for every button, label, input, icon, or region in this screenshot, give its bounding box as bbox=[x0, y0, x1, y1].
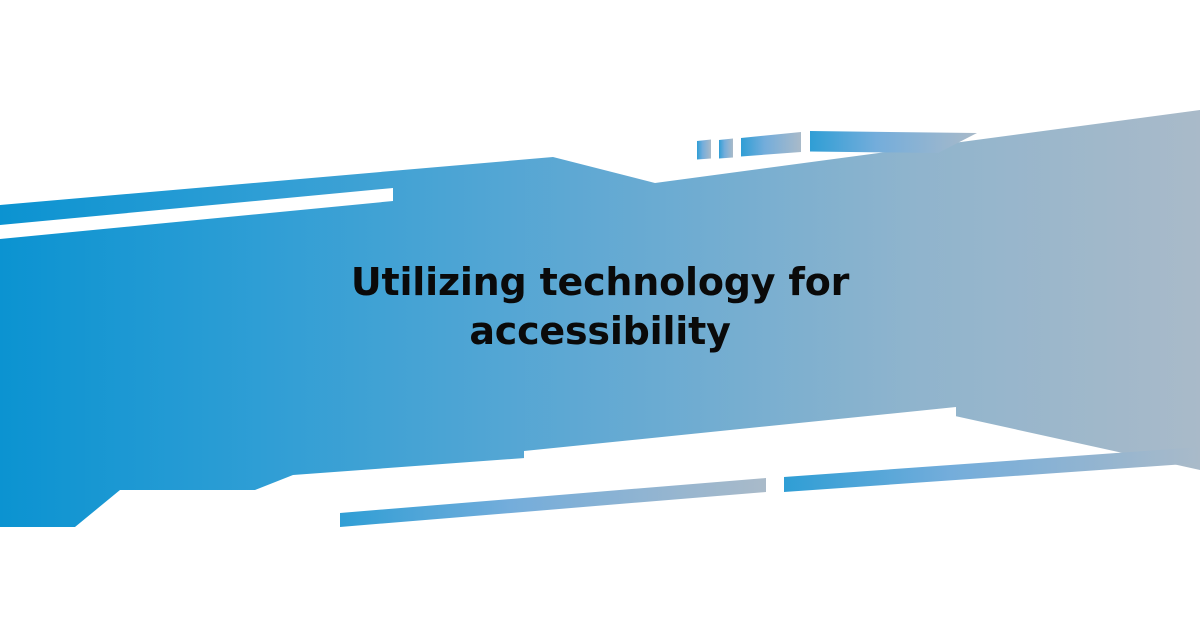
banner-artwork bbox=[0, 0, 1200, 630]
accent-dash-2 bbox=[719, 139, 733, 159]
lower-accent-bar-left bbox=[340, 478, 766, 527]
accent-dash-3 bbox=[741, 132, 801, 157]
accent-dash-1 bbox=[697, 140, 711, 160]
lower-accent-bar-right bbox=[784, 447, 1200, 492]
banner-graphic: Utilizing technology for accessibility bbox=[0, 0, 1200, 630]
